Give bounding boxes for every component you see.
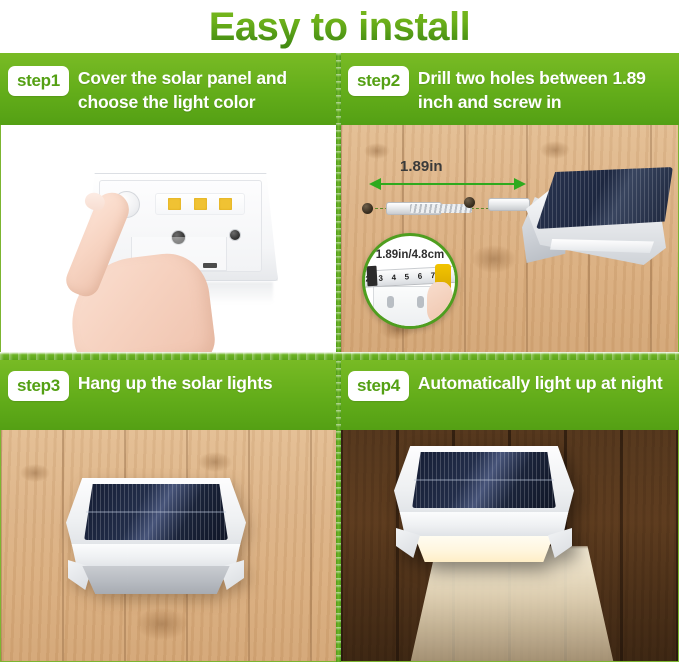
inset-measurement-label: 1.89in/4.8cm (365, 249, 455, 261)
screw-head-icon (464, 197, 475, 208)
infographic-root: Easy to install step1 Cover the solar pa… (0, 0, 679, 662)
screw-thread (410, 204, 472, 213)
lamp-mid-band (398, 512, 570, 536)
step-panel-4: step4 Automatically light up at night (340, 358, 679, 662)
page-title: Easy to install (209, 3, 470, 51)
tape-hook-icon (366, 266, 377, 286)
lamp-body-group (394, 446, 574, 562)
wood-knot (364, 143, 390, 159)
step-1-header: step1 Cover the solar panel and choose t… (0, 53, 339, 125)
lamp-lower-shade (76, 566, 236, 594)
wood-knot (472, 245, 516, 273)
thumb (427, 282, 453, 322)
step-1-text: Cover the solar panel and choose the lig… (78, 65, 333, 114)
dimension-label: 1.89in (400, 158, 443, 175)
step-4-badge: step4 (348, 371, 409, 401)
horizontal-divider (0, 352, 679, 360)
hand-pressing-button (57, 185, 207, 357)
solar-panel (536, 167, 673, 229)
step-3-photo (0, 430, 339, 662)
step-4-photo (340, 430, 679, 662)
wood-knot (136, 608, 188, 640)
steps-grid: step1 Cover the solar panel and choose t… (0, 53, 679, 662)
step-2-badge: step2 (348, 66, 409, 96)
wood-knot (198, 452, 232, 472)
solar-panel-seam (414, 479, 554, 481)
step-3-header: step3 Hang up the solar lights (0, 358, 339, 430)
step-2-photo: 1.89in 1.89in/4.8cm 2 3 4 5 6 7 8 9 (340, 125, 679, 357)
measurement-inset-circle: 1.89in/4.8cm 2 3 4 5 6 7 8 9 (362, 233, 458, 329)
step-3-text: Hang up the solar lights (78, 370, 273, 395)
wood-knot (20, 464, 50, 482)
step-1-photo (0, 125, 339, 357)
led-chip-icon (219, 198, 232, 210)
step-4-text: Automatically light up at night (418, 370, 663, 395)
page-title-bar: Easy to install (0, 0, 679, 53)
step-2-header: step2 Drill two holes between 1.89 inch … (340, 53, 679, 125)
solar-panel-seam (86, 511, 226, 513)
mount-hole (387, 296, 394, 308)
wood-knot (540, 141, 570, 159)
screw-icon (229, 229, 241, 241)
step-panel-1: step1 Cover the solar panel and choose t… (0, 53, 339, 357)
lamp-mid-band (70, 544, 242, 568)
solar-lamp-angled-view (518, 167, 673, 277)
solar-lamp-illuminated (394, 446, 574, 562)
step-panel-2: step2 Drill two holes between 1.89 inch … (340, 53, 679, 357)
solar-lamp-mounted (66, 478, 246, 594)
dimension-arrow (380, 183, 515, 185)
step-4-header: step4 Automatically light up at night (340, 358, 679, 430)
step-1-badge: step1 (8, 66, 69, 96)
step-panel-3: step3 Hang up the solar lights (0, 358, 339, 662)
screw-head-icon (362, 203, 373, 214)
mount-hole (417, 296, 424, 308)
step-3-badge: step3 (8, 371, 69, 401)
step-2-text: Drill two holes between 1.89 inch and sc… (418, 65, 673, 114)
studio-backdrop (0, 125, 339, 357)
